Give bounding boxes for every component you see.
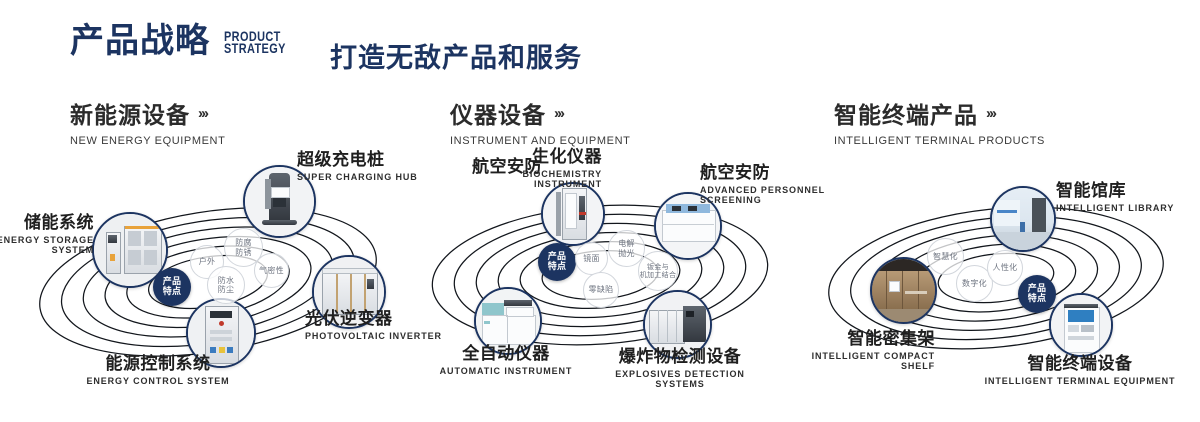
poster-canvas: 产品战略 PRODUCT STRATEGY 打造无敌产品和服务 新能源设备›››…: [0, 0, 1200, 422]
page-title-en: PRODUCT STRATEGY: [224, 30, 286, 58]
page-title: 产品战略: [70, 24, 210, 58]
page-subtitle: 打造无敌产品和服务: [330, 36, 582, 75]
chevron-right-icon: ›››: [198, 105, 207, 122]
label-en: AUTOMATIC INSTRUMENT: [426, 366, 586, 376]
label-en: INTELLIGENT LIBRARY: [1056, 203, 1200, 213]
feature-bubble-humanized: 人性化: [987, 250, 1023, 286]
product-photo-energy-storage: [94, 214, 166, 286]
feature-bubble-airtightness: 气密性: [254, 253, 289, 288]
feature-core-product-traits: 产品 特点: [538, 243, 576, 281]
label-cn: 智能密集架: [790, 330, 935, 349]
chevron-right-icon: ›››: [986, 105, 995, 122]
label-intelligent-terminal-equipment: 智能终端设备 INTELLIGENT TERMINAL EQUIPMENT: [975, 355, 1185, 386]
label-cn: 生化仪器: [480, 148, 602, 167]
label-cn: 全自动仪器: [426, 345, 586, 364]
node-intelligent-terminal-equipment[interactable]: [1049, 293, 1113, 357]
label-en: INTELLIGENT TERMINAL EQUIPMENT: [975, 376, 1185, 386]
label-cn: 智能馆库: [1056, 182, 1200, 201]
label-en: ENERGY CONTROL SYSTEM: [78, 376, 238, 386]
label-energy-storage-system: 储能系统 ENERGY STORAGE SYSTEM: [0, 214, 94, 255]
node-intelligent-library[interactable]: [990, 186, 1056, 252]
feature-bubble-sheetmetal-machining: 钣金与 机加工结合: [638, 251, 678, 291]
label-intelligent-compact-shelf: 智能密集架 INTELLIGENT COMPACT SHELF: [790, 330, 935, 371]
section-title-en: NEW ENERGY EQUIPMENT: [70, 135, 225, 147]
section-title-en: INSTRUMENT AND EQUIPMENT: [450, 135, 630, 147]
feature-bubble-zero-defect: 零缺陷: [583, 272, 619, 308]
section-title-en: INTELLIGENT TERMINAL PRODUCTS: [834, 135, 1045, 147]
section-title-cn: 新能源设备: [70, 96, 190, 130]
label-en: ENERGY STORAGE SYSTEM: [0, 235, 94, 255]
chevron-right-icon: ›››: [554, 105, 563, 122]
label-automatic-instrument: 全自动仪器 AUTOMATIC INSTRUMENT: [426, 345, 586, 376]
label-en: INTELLIGENT COMPACT SHELF: [790, 351, 935, 371]
product-photo-biochemistry: [543, 184, 603, 244]
label-cn: 能源控制系统: [78, 355, 238, 374]
label-cn: 储能系统: [0, 214, 94, 233]
label-explosives-detection-systems: 爆炸物检测设备 EXPLOSIVES DETECTION SYSTEMS: [595, 348, 765, 389]
poster-header: 产品战略 PRODUCT STRATEGY: [70, 24, 303, 58]
feature-bubble-waterproof-dustproof: 防水 防尘: [207, 266, 245, 304]
feature-bubble-intelligent: 智慧化: [927, 238, 964, 275]
node-biochemistry-instrument[interactable]: [541, 182, 605, 246]
label-cn: 智能终端设备: [975, 355, 1185, 374]
feature-bubble-mirror-finish: 镜面: [575, 242, 608, 275]
label-biochemistry-instrument: 生化仪器 BIOCHEMISTRY INSTRUMENT: [480, 148, 602, 189]
label-en: BIOCHEMISTRY INSTRUMENT: [480, 169, 602, 189]
section-title-instrument: 仪器设备››› INSTRUMENT AND EQUIPMENT: [450, 96, 630, 147]
section-title-cn: 仪器设备: [450, 96, 546, 130]
label-intelligent-library: 智能馆库 INTELLIGENT LIBRARY: [1056, 182, 1200, 213]
label-en: EXPLOSIVES DETECTION SYSTEMS: [595, 369, 765, 389]
node-intelligent-compact-shelf[interactable]: [870, 257, 937, 324]
cluster-instrument: 航空安防 生化仪器 BIOCHEMISTRY INSTRUMENT 航空安防 A…: [400, 150, 820, 400]
product-photo-terminal-equipment: [1051, 295, 1111, 355]
label-energy-control-system: 能源控制系统 ENERGY CONTROL SYSTEM: [78, 355, 238, 386]
cluster-intelligent-terminal: 智能馆库 INTELLIGENT LIBRARY 智能密集架 INTELLIGE…: [800, 150, 1200, 400]
section-title-cn: 智能终端产品: [834, 96, 978, 130]
label-cn: 爆炸物检测设备: [595, 348, 765, 367]
feature-core-product-traits: 产品 特点: [1018, 275, 1056, 313]
product-photo-compact-shelf: [872, 259, 935, 322]
feature-core-product-traits: 产品 特点: [153, 268, 191, 306]
product-photo-library: [992, 188, 1054, 250]
section-title-intelligent: 智能终端产品››› INTELLIGENT TERMINAL PRODUCTS: [834, 96, 1045, 147]
cluster-new-energy: 储能系统 ENERGY STORAGE SYSTEM 超级充电桩 SUPER C…: [0, 150, 420, 400]
section-title-new-energy: 新能源设备››› NEW ENERGY EQUIPMENT: [70, 96, 225, 147]
